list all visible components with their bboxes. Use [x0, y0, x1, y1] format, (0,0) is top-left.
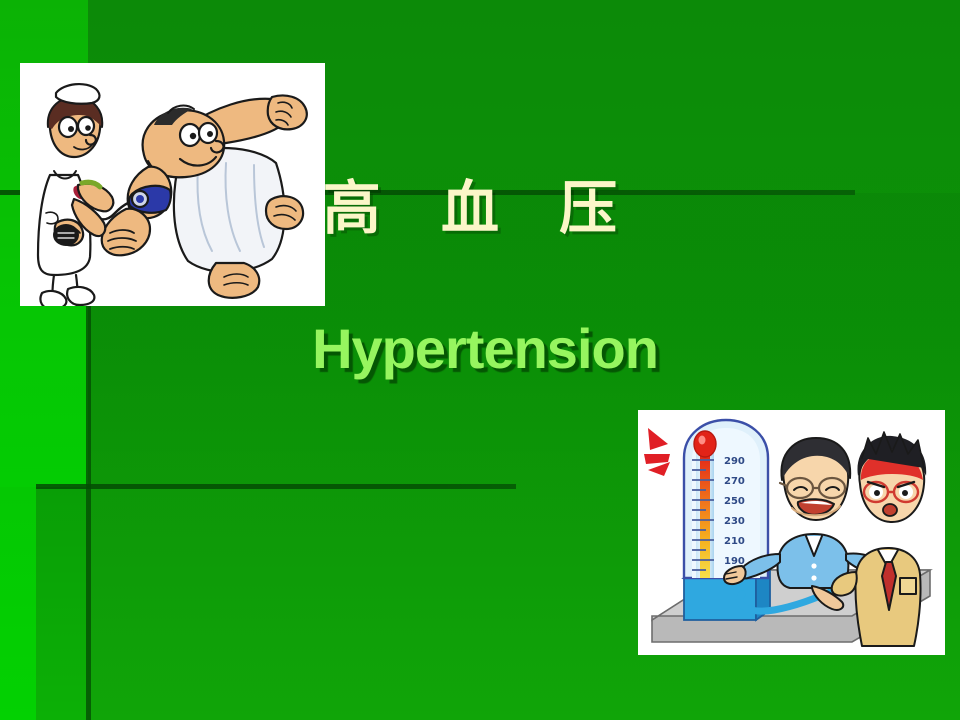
svg-text:210: 210 — [724, 536, 745, 547]
left-midtone-band — [36, 487, 88, 720]
left-accent-panel-lower — [0, 487, 36, 720]
gauge-illustration: 290 270 250 230 210 190 — [638, 410, 945, 655]
horizontal-rule-middle — [36, 484, 516, 489]
svg-text:290: 290 — [724, 456, 745, 467]
page-subtitle-english: Hypertension — [270, 318, 700, 381]
svg-text:250: 250 — [724, 496, 745, 507]
svg-text:270: 270 — [724, 476, 745, 487]
presentation-slide: 290 270 250 230 210 190 — [0, 0, 960, 720]
page-title-chinese: 高 血 压 — [0, 176, 960, 241]
svg-text:230: 230 — [724, 516, 745, 527]
vertical-rule-main — [86, 305, 91, 720]
